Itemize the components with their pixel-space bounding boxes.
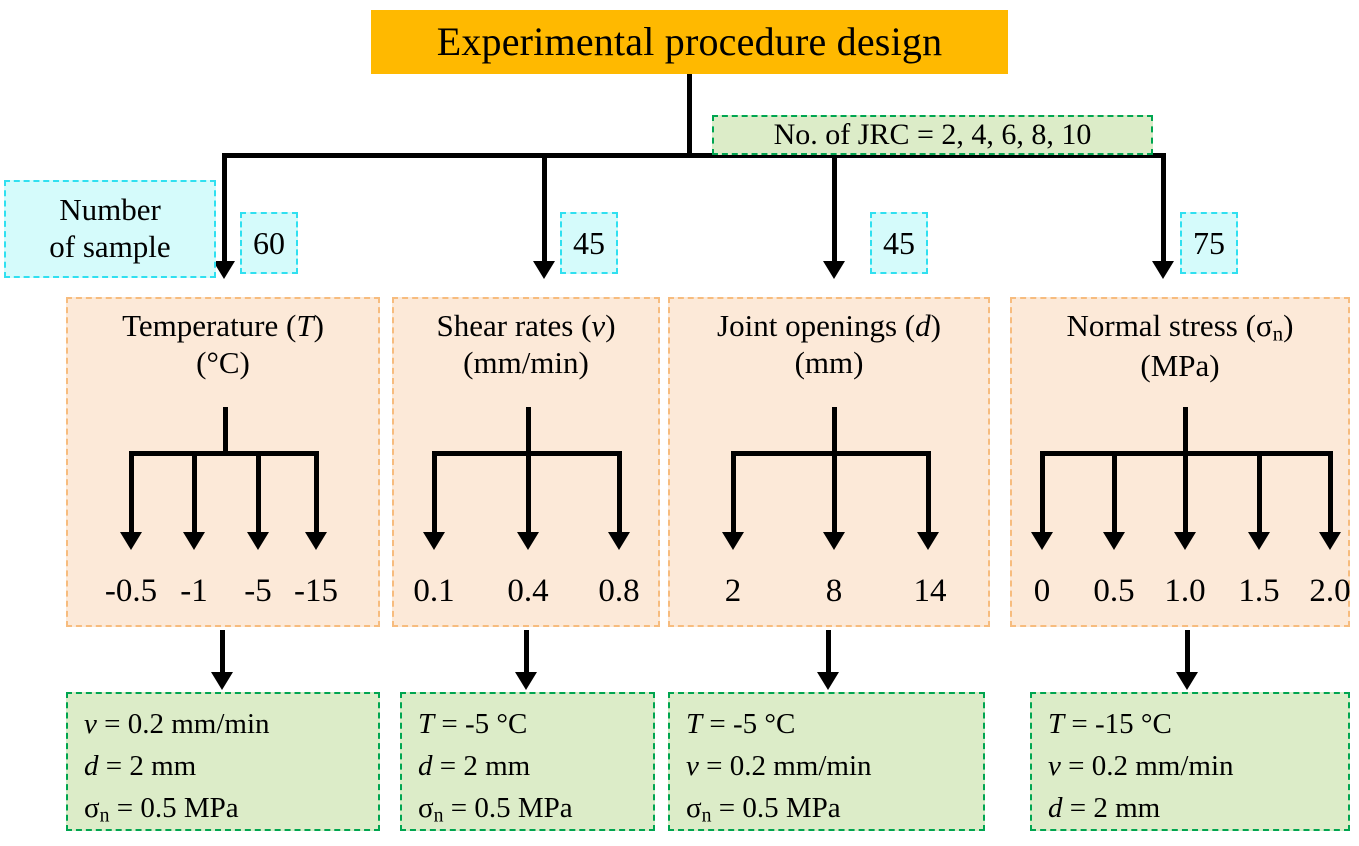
category-symbol-temperature: T [296, 308, 313, 343]
branch-stem-joint-openings [832, 407, 837, 454]
sample-count-badge-2: 45 [560, 212, 618, 274]
number-of-sample-label: Number of sample [4, 180, 216, 278]
branch-arrowhead-joint-openings-1 [722, 532, 744, 550]
condition-line: T = -15 °C [1048, 703, 1348, 745]
condition-rest: = 0.2 mm/min [97, 708, 270, 740]
result-arrowhead-temperature [211, 672, 233, 690]
branch-arrowhead-normal-stress-1 [1031, 532, 1053, 550]
condition-subscript: n [100, 804, 110, 826]
condition-symbol: v [84, 708, 97, 740]
condition-line: d = 2 mm [1048, 787, 1348, 829]
branch-arrowhead-normal-stress-3 [1174, 532, 1196, 550]
bus-drop-1 [222, 153, 227, 263]
branch-arrowhead-joint-openings-2 [823, 532, 845, 550]
branch-drop-joint-openings-1 [731, 451, 736, 534]
condition-line: v = 0.2 mm/min [84, 703, 378, 745]
category-unit-normal-stress: (MPa) [1140, 348, 1219, 383]
category-panel-joint-openings: Joint openings (d) (mm) 2 8 14 [668, 297, 990, 627]
category-symbol-shear-rates: v [591, 308, 605, 343]
branch-arrowhead-normal-stress-5 [1319, 532, 1341, 550]
branch-drop-normal-stress-3 [1183, 451, 1188, 534]
branch-arrowhead-shear-rates-2 [517, 532, 539, 550]
value-item: 1.5 [1238, 569, 1279, 613]
category-values-normal-stress: 0 0.5 1.0 1.5 2.0 [1012, 569, 1348, 613]
category-heading-temperature: Temperature (T) (°C) [68, 307, 378, 381]
condition-rest: = 0.2 mm/min [699, 750, 872, 782]
conditions-panel-temperature: v = 0.2 mm/min d = 2 mm σn = 0.5 MPa [66, 692, 380, 831]
branch-arrowhead-temperature-2 [183, 532, 205, 550]
category-heading-joint-openings: Joint openings (d) (mm) [670, 307, 988, 381]
branch-drop-joint-openings-3 [926, 451, 931, 534]
branch-arrowhead-shear-rates-1 [423, 532, 445, 550]
branch-arrowhead-joint-openings-3 [917, 532, 939, 550]
condition-line: T = -5 °C [686, 703, 983, 745]
value-item: -5 [244, 569, 272, 613]
sample-count-value-3: 45 [883, 225, 915, 262]
value-item: 0.1 [413, 569, 454, 613]
branch-drop-temperature-2 [192, 451, 197, 534]
branch-arrowhead-temperature-4 [305, 532, 327, 550]
condition-rest: = -5 °C [702, 708, 795, 740]
condition-symbol: T [686, 708, 702, 740]
condition-symbol: d [1048, 792, 1063, 824]
jrc-note-box: No. of JRC = 2, 4, 6, 8, 10 [712, 115, 1153, 155]
number-of-sample-line2: of sample [49, 229, 170, 266]
value-item: -0.5 [105, 569, 157, 613]
sample-count-value-1: 60 [253, 225, 285, 262]
result-arrowhead-shear-rates [515, 672, 537, 690]
condition-symbol: σ [84, 792, 100, 824]
category-panel-shear-rates: Shear rates (v) (mm/min) 0.1 0.4 0.8 [392, 297, 660, 627]
value-item: 0 [1034, 569, 1051, 613]
result-connector-joint-openings [826, 630, 831, 674]
conditions-panel-shear-rates: T = -5 °C d = 2 mm σn = 0.5 MPa [400, 692, 655, 831]
condition-symbol: T [1048, 708, 1064, 740]
condition-subscript: n [434, 804, 444, 826]
branch-drop-normal-stress-1 [1040, 451, 1045, 534]
branch-arrowhead-temperature-3 [247, 532, 269, 550]
branch-stem-normal-stress [1183, 407, 1188, 454]
conditions-panel-joint-openings: T = -5 °C v = 0.2 mm/min σn = 0.5 MPa [668, 692, 985, 831]
condition-subscript: n [702, 804, 712, 826]
category-values-temperature: -0.5 -1 -5 -15 [68, 569, 378, 613]
condition-line: σn = 0.5 MPa [84, 787, 378, 830]
condition-rest: = 2 mm [99, 750, 197, 782]
condition-rest: = 0.2 mm/min [1061, 750, 1234, 782]
branch-drop-shear-rates-3 [617, 451, 622, 534]
condition-line: σn = 0.5 MPa [686, 787, 983, 830]
sample-count-badge-4: 75 [1180, 212, 1238, 274]
result-arrowhead-normal-stress [1176, 672, 1198, 690]
condition-line: T = -5 °C [418, 703, 653, 745]
category-symbol-joint-openings: d [915, 308, 931, 343]
condition-symbol: d [418, 750, 433, 782]
title-stem-connector [687, 74, 692, 158]
condition-rest: = 0.5 MPa [110, 792, 239, 824]
value-item: 0.4 [507, 569, 548, 613]
branch-stem-shear-rates [526, 407, 531, 454]
branch-drop-temperature-4 [314, 451, 319, 534]
value-item: 2.0 [1309, 569, 1350, 613]
diagram-title-text: Experimental procedure design [437, 22, 943, 62]
category-name-joint-openings: Joint openings [717, 308, 897, 343]
condition-line: v = 0.2 mm/min [686, 745, 983, 787]
category-panel-temperature: Temperature (T) (°C) -0.5 -1 -5 -15 [66, 297, 380, 627]
branch-arrowhead-temperature-1 [120, 532, 142, 550]
bus-arrowhead-4 [1152, 261, 1174, 279]
bus-drop-3 [832, 153, 837, 263]
branch-drop-shear-rates-2 [526, 451, 531, 534]
category-name-shear-rates: Shear rates [436, 308, 573, 343]
branch-bar-temperature [129, 451, 319, 456]
branch-stem-temperature [223, 407, 228, 454]
result-connector-temperature [220, 630, 225, 674]
condition-rest: = 2 mm [433, 750, 531, 782]
branch-arrowhead-normal-stress-4 [1248, 532, 1270, 550]
number-of-sample-line1: Number [59, 192, 161, 229]
category-heading-normal-stress: Normal stress (σn) (MPa) [1012, 307, 1348, 384]
category-symbol-normal-stress: σ [1256, 308, 1273, 343]
value-item: 1.0 [1164, 569, 1205, 613]
sample-count-value-2: 45 [573, 225, 605, 262]
bus-drop-4 [1161, 153, 1166, 263]
sample-count-value-4: 75 [1193, 225, 1225, 262]
category-unit-temperature: (°C) [196, 345, 250, 380]
condition-symbol: T [418, 708, 434, 740]
bus-arrowhead-1 [213, 261, 235, 279]
branch-drop-normal-stress-5 [1328, 451, 1333, 534]
branch-bar-joint-openings [731, 451, 931, 456]
condition-line: σn = 0.5 MPa [418, 787, 653, 830]
value-item: 8 [826, 569, 843, 613]
condition-symbol: σ [418, 792, 434, 824]
branch-drop-joint-openings-2 [832, 451, 837, 534]
branch-arrowhead-normal-stress-2 [1103, 532, 1125, 550]
category-heading-shear-rates: Shear rates (v) (mm/min) [394, 307, 658, 381]
condition-line: d = 2 mm [84, 745, 378, 787]
branch-drop-normal-stress-2 [1112, 451, 1117, 534]
branch-drop-temperature-1 [129, 451, 134, 534]
result-connector-shear-rates [524, 630, 529, 674]
category-symbol-subscript-normal-stress: n [1273, 322, 1284, 346]
category-unit-joint-openings: (mm) [795, 345, 864, 380]
value-item: 2 [725, 569, 742, 613]
condition-rest: = 2 mm [1063, 792, 1161, 824]
category-name-normal-stress: Normal stress [1066, 308, 1237, 343]
conditions-panel-normal-stress: T = -15 °C v = 0.2 mm/min d = 2 mm [1030, 692, 1350, 831]
value-item: 0.8 [598, 569, 639, 613]
condition-rest: = -15 °C [1064, 708, 1172, 740]
condition-symbol: v [686, 750, 699, 782]
condition-symbol: d [84, 750, 99, 782]
branch-arrowhead-shear-rates-3 [608, 532, 630, 550]
result-connector-normal-stress [1185, 630, 1190, 674]
value-item: -1 [180, 569, 208, 613]
condition-line: v = 0.2 mm/min [1048, 745, 1348, 787]
condition-symbol: σ [686, 792, 702, 824]
condition-line: d = 2 mm [418, 745, 653, 787]
category-unit-shear-rates: (mm/min) [463, 345, 589, 380]
result-arrowhead-joint-openings [817, 672, 839, 690]
category-values-shear-rates: 0.1 0.4 0.8 [394, 569, 658, 613]
condition-rest: = 0.5 MPa [444, 792, 573, 824]
branch-drop-normal-stress-4 [1257, 451, 1262, 534]
condition-rest: = 0.5 MPa [712, 792, 841, 824]
bus-arrowhead-2 [533, 261, 555, 279]
diagram-title: Experimental procedure design [371, 10, 1008, 74]
category-values-joint-openings: 2 8 14 [670, 569, 988, 613]
jrc-note-text: No. of JRC = 2, 4, 6, 8, 10 [774, 118, 1092, 152]
branch-drop-shear-rates-1 [432, 451, 437, 534]
condition-rest: = -5 °C [434, 708, 527, 740]
bus-arrowhead-3 [823, 261, 845, 279]
value-item: -15 [294, 569, 338, 613]
bus-drop-2 [542, 153, 547, 263]
value-item: 14 [914, 569, 947, 613]
category-panel-normal-stress: Normal stress (σn) (MPa) 0 0.5 1.0 1.5 2… [1010, 297, 1350, 627]
condition-symbol: v [1048, 750, 1061, 782]
sample-count-badge-1: 60 [240, 212, 298, 274]
value-item: 0.5 [1093, 569, 1134, 613]
branch-drop-temperature-3 [256, 451, 261, 534]
sample-count-badge-3: 45 [870, 212, 928, 274]
category-name-temperature: Temperature [122, 308, 278, 343]
